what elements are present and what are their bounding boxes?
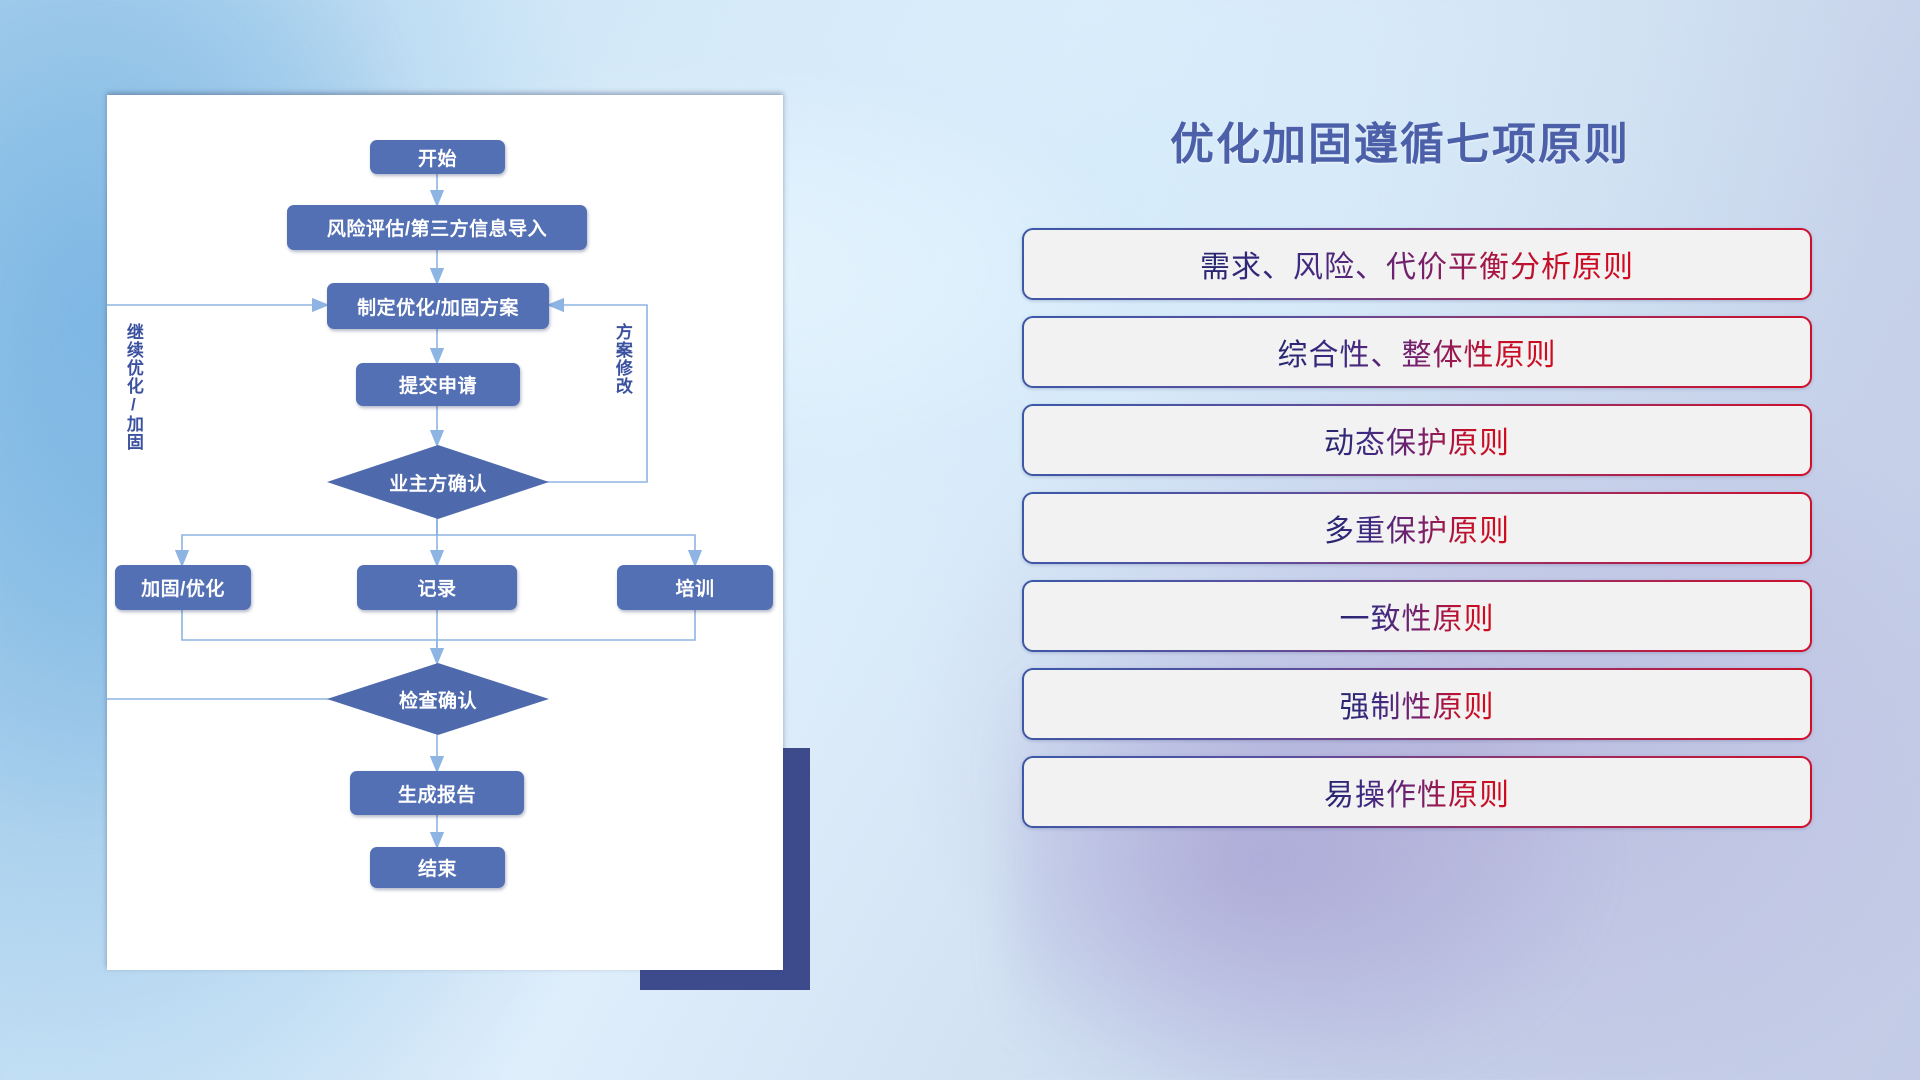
flow-node-submit[interactable]: 提交申请 xyxy=(356,363,520,406)
principle-card[interactable]: 动态保护原则 xyxy=(1022,404,1812,476)
principle-card[interactable]: 一致性原则 xyxy=(1022,580,1812,652)
flow-edge-label-plan-revision: 方案修改 xyxy=(613,323,631,395)
principle-label: 需求、风险、代价平衡分析原则 xyxy=(1200,242,1634,286)
flow-node-risk-label: 风险评估/第三方信息导入 xyxy=(327,214,547,241)
flow-node-submit-label: 提交申请 xyxy=(399,371,477,398)
principles-heading: 优化加固遵循七项原则 xyxy=(1020,108,1780,172)
flow-node-report[interactable]: 生成报告 xyxy=(350,771,524,815)
flow-node-owner-confirm[interactable]: 业主方确认 xyxy=(327,445,549,519)
flow-node-start-label: 开始 xyxy=(418,144,457,171)
flow-node-plan[interactable]: 制定优化/加固方案 xyxy=(327,283,549,329)
flow-node-end[interactable]: 结束 xyxy=(370,847,505,888)
principle-label: 动态保护原则 xyxy=(1324,418,1510,462)
flow-node-start[interactable]: 开始 xyxy=(370,140,505,174)
flow-node-training-label: 培训 xyxy=(675,574,714,601)
principle-card-inner: 易操作性原则 xyxy=(1024,758,1810,826)
flow-node-reinforce-label: 加固/优化 xyxy=(141,574,225,601)
principle-card-inner: 强制性原则 xyxy=(1024,670,1810,738)
principle-card[interactable]: 需求、风险、代价平衡分析原则 xyxy=(1022,228,1812,300)
flow-node-check-label: 检查确认 xyxy=(399,686,477,713)
flow-node-end-label: 结束 xyxy=(418,854,457,881)
flow-node-plan-label: 制定优化/加固方案 xyxy=(357,293,519,320)
principle-card-inner: 综合性、整体性原则 xyxy=(1024,318,1810,386)
principle-card[interactable]: 易操作性原则 xyxy=(1022,756,1812,828)
principle-label: 一致性原则 xyxy=(1340,594,1495,638)
principle-card-inner: 动态保护原则 xyxy=(1024,406,1810,474)
principle-card[interactable]: 多重保护原则 xyxy=(1022,492,1812,564)
principle-label: 多重保护原则 xyxy=(1324,506,1510,550)
flow-node-risk[interactable]: 风险评估/第三方信息导入 xyxy=(287,205,587,250)
flowchart-sheet: 开始 风险评估/第三方信息导入 制定优化/加固方案 提交申请 业主方确认 加固/… xyxy=(107,95,783,970)
flow-node-owner-confirm-label: 业主方确认 xyxy=(389,469,487,496)
principle-card-inner: 需求、风险、代价平衡分析原则 xyxy=(1024,230,1810,298)
principle-label: 易操作性原则 xyxy=(1324,770,1510,814)
principles-list: 需求、风险、代价平衡分析原则 综合性、整体性原则 动态保护原则 多重保护原则 一… xyxy=(1022,228,1812,844)
principle-label: 综合性、整体性原则 xyxy=(1278,330,1557,374)
flow-node-record[interactable]: 记录 xyxy=(357,565,517,610)
flow-node-check[interactable]: 检查确认 xyxy=(327,663,549,735)
principle-card[interactable]: 综合性、整体性原则 xyxy=(1022,316,1812,388)
principle-card-inner: 一致性原则 xyxy=(1024,582,1810,650)
principle-label: 强制性原则 xyxy=(1340,682,1495,726)
flow-edge-label-continue-optimize: 继续优化/加固 xyxy=(124,323,142,451)
principle-card[interactable]: 强制性原则 xyxy=(1022,668,1812,740)
principle-card-inner: 多重保护原则 xyxy=(1024,494,1810,562)
flow-node-reinforce[interactable]: 加固/优化 xyxy=(115,565,251,610)
flow-node-report-label: 生成报告 xyxy=(398,780,476,807)
flowchart: 开始 风险评估/第三方信息导入 制定优化/加固方案 提交申请 业主方确认 加固/… xyxy=(107,95,783,970)
flow-node-record-label: 记录 xyxy=(417,574,456,601)
flow-node-training[interactable]: 培训 xyxy=(617,565,773,610)
